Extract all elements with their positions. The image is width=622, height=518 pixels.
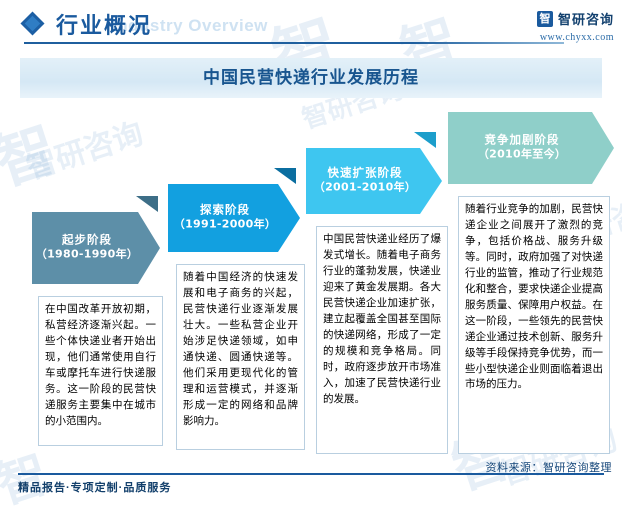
header-divider	[24, 42, 564, 44]
stage-banner-4[interactable]: 竞争加剧阶段 （2010年至今）	[448, 112, 614, 184]
stage-name: 快速扩张阶段	[306, 166, 424, 180]
stage-years: （1991-2000年）	[168, 218, 282, 233]
footer-tagline: 精品报告·专项定制·品质服务	[18, 479, 171, 495]
brand-url[interactable]: www.chyxx.com	[537, 32, 614, 43]
watermark-logo-topleft: 智	[0, 101, 66, 202]
stage-years: （2001-2010年）	[306, 181, 424, 196]
brand-block[interactable]: 智 智研咨询 www.chyxx.com	[537, 9, 614, 43]
stage-notch-2	[274, 168, 296, 184]
stage-card-2: 随着中国经济的快速发展和电子商务的兴起，民营快递行业逐渐发展壮大。一些私营企业开…	[176, 264, 305, 450]
brand-logo-icon: 智	[537, 11, 553, 27]
stage-banner-2[interactable]: 探索阶段 （1991-2000年）	[168, 184, 300, 252]
stage-card-1: 在中国改革开放初期，私营经济逐渐兴起。一些个体快递业者开始出现，他们通常使用自行…	[38, 296, 163, 446]
page-title-band: 中国民营快递行业发展历程	[20, 58, 602, 98]
brand-name: 智研咨询	[558, 9, 614, 28]
stage-banner-1[interactable]: 起步阶段 （1980-1990年）	[32, 212, 160, 284]
stage-notch-1	[136, 196, 158, 212]
page-title: 中国民营快递行业发展历程	[20, 58, 602, 98]
stage-card-3: 中国民营快递业经历了爆发式增长。随着电子商务行业的蓬勃发展，快递业迎来了黄金发展…	[316, 226, 448, 454]
diamond-icon	[20, 11, 44, 35]
stage-notch-3	[414, 132, 436, 148]
stage-name: 起步阶段	[32, 233, 142, 247]
watermark-text-midleft: 智研咨询	[20, 109, 148, 188]
page-header: Industry Overview 行业概况 智 智研咨询 www.chyxx.…	[0, 0, 622, 56]
stage-banner-3[interactable]: 快速扩张阶段 （2001-2010年）	[306, 148, 442, 214]
footer-divider	[18, 473, 604, 475]
watermark-logo-bottomleft: 智	[0, 434, 56, 518]
stage-name: 竞争加剧阶段	[448, 133, 596, 147]
stage-name: 探索阶段	[168, 203, 282, 217]
stage-years: （1980-1990年）	[32, 248, 142, 263]
stage-years: （2010年至今）	[448, 148, 596, 163]
header-title: 行业概况	[56, 8, 152, 40]
stage-card-4: 随着行业竞争的加剧，民营快递企业之间展开了激烈的竞争，包括价格战、服务升级等。同…	[458, 196, 610, 454]
